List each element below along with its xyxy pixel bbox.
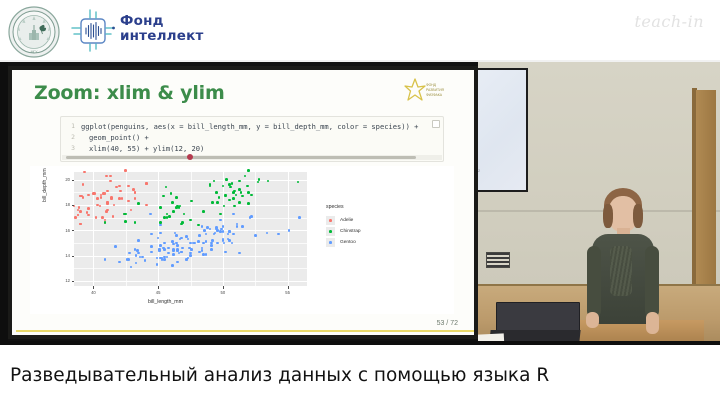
fund-intellect-wordmark: Фонд интеллект (120, 14, 204, 43)
data-point (137, 252, 140, 255)
gridline-x-minor (126, 172, 127, 286)
data-point (145, 182, 148, 185)
x-axis-title: bill_length_mm (148, 299, 183, 305)
data-point (176, 261, 179, 264)
plot-legend: species AdelieChinstrapGentoo (326, 204, 361, 248)
y-tick-label: 16 (58, 228, 70, 233)
data-point (232, 233, 235, 236)
x-tick-mark (158, 286, 159, 289)
data-point (104, 258, 107, 261)
presentation-slide: Zoom: xlim & ylim ФОНД РАЗВИТИЯ ФИЗФАКА … (12, 70, 474, 335)
data-point (247, 202, 250, 205)
presenter-hair-left (603, 204, 613, 228)
data-point (215, 191, 218, 194)
data-point (190, 248, 193, 251)
data-point (189, 254, 192, 257)
data-point (227, 233, 230, 236)
y-tick-label: 12 (58, 278, 70, 283)
data-point (170, 192, 173, 195)
data-point (83, 171, 86, 174)
gridline-x-minor (191, 172, 192, 286)
data-point (215, 228, 218, 231)
data-point (176, 244, 179, 247)
data-point (214, 232, 217, 235)
lecture-video-frame[interactable]: Zoom: xlim & ylim ФОНД РАЗВИТИЯ ФИЗФАКА … (0, 62, 720, 345)
gridline-x (93, 172, 94, 286)
projection-screen: 53 / 72 (478, 68, 528, 192)
data-point (180, 223, 183, 226)
data-point (189, 242, 192, 245)
data-point (219, 230, 222, 233)
data-point (172, 249, 175, 252)
code-text-1: ggplot(penguins, aes(x = bill_length_mm,… (81, 122, 418, 131)
data-point (175, 242, 178, 245)
data-point (167, 247, 170, 250)
data-point (244, 175, 247, 178)
data-point (172, 243, 175, 246)
slide-bezel: Zoom: xlim & ylim ФОНД РАЗВИТИЯ ФИЗФАКА … (8, 66, 478, 339)
y-tick-label: 20 (58, 177, 70, 182)
data-point (213, 180, 216, 183)
data-point (175, 196, 178, 199)
data-point (159, 244, 162, 247)
data-point (109, 180, 112, 183)
data-point (222, 230, 225, 233)
code-gutter-2: 2 (61, 132, 75, 143)
slide-page-number: 53 / 72 (437, 320, 458, 327)
x-tick-label: 55 (282, 290, 294, 295)
data-point (205, 253, 208, 256)
code-line-1: 1 ggplot(penguins, aes(x = bill_length_m… (61, 121, 443, 132)
y-tick-mark (72, 281, 75, 282)
data-point (216, 242, 219, 245)
data-point (238, 252, 241, 255)
data-point (158, 249, 161, 252)
data-point (74, 216, 77, 219)
data-point (106, 201, 109, 204)
data-point (238, 180, 241, 183)
data-point (105, 175, 108, 178)
data-point (219, 219, 222, 222)
data-point (149, 213, 152, 216)
x-tick-mark (288, 286, 289, 289)
data-point (163, 248, 166, 251)
data-point (236, 225, 239, 228)
svg-text:МГУ: МГУ (31, 50, 39, 54)
fund-intellect-logo-icon (70, 8, 116, 54)
data-point (197, 240, 200, 243)
data-point (176, 249, 179, 252)
data-point (136, 249, 139, 252)
data-point (183, 213, 186, 216)
code-text-3: xlim(40, 55) + ylim(12, 20) (89, 144, 204, 153)
slide-title: Zoom: xlim & ylim (34, 82, 225, 104)
data-point (137, 239, 140, 242)
data-point (110, 197, 113, 200)
data-point (246, 185, 249, 188)
data-point (218, 196, 221, 199)
projected-page-number: 53 / 72 (478, 168, 480, 173)
presenter-arm-right (645, 246, 659, 318)
data-point (198, 234, 201, 237)
presenter-blouse-fold (610, 246, 632, 296)
legend-item: Chinstrap (326, 226, 361, 237)
x-tick-label: 50 (217, 290, 229, 295)
data-point (134, 191, 137, 194)
gridline-x-minor (255, 172, 256, 286)
data-point (188, 247, 191, 250)
data-point (145, 204, 148, 207)
data-point (159, 224, 162, 227)
data-point (241, 225, 244, 228)
data-point (250, 194, 253, 197)
code-block[interactable]: 1 ggplot(penguins, aes(x = bill_length_m… (60, 116, 444, 162)
data-point (127, 200, 130, 203)
data-point (127, 258, 130, 261)
data-point (118, 185, 121, 188)
data-point (130, 209, 133, 212)
data-point (118, 261, 121, 264)
data-point (175, 234, 178, 237)
data-point (104, 221, 107, 224)
data-point (163, 258, 166, 261)
plot-panel (74, 172, 307, 286)
copy-code-button[interactable] (432, 120, 440, 128)
x-tick-mark (93, 286, 94, 289)
data-point (202, 210, 205, 213)
page-header: МГУ Фонд (0, 0, 720, 62)
data-point (96, 197, 99, 200)
data-point (209, 183, 212, 186)
data-point (257, 181, 260, 184)
data-point (121, 197, 124, 200)
cursor-marker (187, 154, 193, 160)
scrollbar-thumb[interactable] (66, 156, 416, 159)
y-tick-mark (72, 205, 75, 206)
data-point (100, 196, 103, 199)
data-point (210, 248, 213, 251)
data-point (232, 197, 235, 200)
legend-key (326, 216, 335, 225)
data-point (241, 195, 244, 198)
data-point (185, 258, 188, 261)
data-point (235, 194, 238, 197)
data-point (202, 242, 205, 245)
data-point (82, 183, 85, 186)
data-point (185, 235, 188, 238)
data-point (224, 195, 227, 198)
data-point (82, 196, 85, 199)
data-point (87, 194, 90, 197)
data-point (172, 210, 175, 213)
screenshot-root: МГУ Фонд (0, 0, 720, 405)
data-point (127, 185, 130, 188)
legend-item: Adelie (326, 215, 361, 226)
data-point (79, 210, 82, 213)
code-text-2: geom_point() + (89, 133, 149, 142)
radiator (486, 252, 510, 268)
slide-accent-rule (16, 330, 474, 332)
data-point (225, 178, 228, 181)
data-point (219, 213, 222, 216)
data-point (175, 206, 178, 209)
data-point (181, 247, 184, 250)
data-point (135, 262, 138, 265)
data-point (159, 206, 162, 209)
y-tick-mark (72, 256, 75, 257)
data-point (171, 264, 174, 267)
data-point (232, 191, 235, 194)
gridline-x (158, 172, 159, 286)
data-point (202, 253, 205, 256)
door (696, 90, 716, 285)
data-point (228, 239, 231, 242)
data-point (171, 201, 174, 204)
fund-line-2: интеллект (120, 29, 204, 44)
y-tick-label: 18 (58, 202, 70, 207)
data-point (266, 232, 269, 235)
data-point (134, 221, 137, 224)
data-point (250, 215, 253, 218)
y-axis-title: bill_depth_mm (42, 168, 48, 202)
data-point (277, 233, 280, 236)
video-left-letterbox (0, 62, 8, 345)
data-point (165, 186, 168, 189)
data-point (231, 182, 234, 185)
data-point (216, 201, 219, 204)
code-line-3: 3 xlim(40, 55) + ylim(12, 20) (61, 143, 443, 154)
data-point (168, 215, 171, 218)
y-tick-mark (72, 180, 75, 181)
data-point (233, 205, 236, 208)
x-tick-label: 45 (152, 290, 164, 295)
data-point (206, 226, 209, 229)
data-point (132, 188, 135, 191)
data-point (197, 224, 200, 227)
data-point (203, 229, 206, 232)
fund-star-badge-icon: ФОНД РАЗВИТИЯ ФИЗФАКА (404, 78, 460, 112)
data-point (156, 263, 159, 266)
data-point (112, 215, 115, 218)
lecture-hall-photo: 53 / 72 (478, 62, 720, 345)
data-point (238, 201, 241, 204)
data-point (105, 210, 108, 213)
msu-seal-icon: МГУ (8, 6, 60, 58)
data-point (180, 237, 183, 240)
data-point (124, 213, 127, 216)
data-point (162, 195, 165, 198)
data-point (210, 244, 213, 247)
data-point (201, 249, 204, 252)
data-point (87, 207, 90, 210)
data-point (118, 197, 121, 200)
legend-key (326, 227, 335, 236)
presenter-arm-left (587, 246, 601, 318)
presenter-hand-left (586, 312, 599, 328)
data-point (87, 214, 90, 217)
data-point (201, 225, 204, 228)
data-point (298, 216, 301, 219)
y-tick-label: 14 (58, 253, 70, 258)
presenter-hair-right (633, 204, 643, 228)
data-point (159, 232, 162, 235)
data-point (104, 192, 107, 195)
data-point (150, 233, 153, 236)
data-point (232, 213, 235, 216)
data-point (236, 223, 239, 226)
data-point (92, 192, 95, 195)
data-point (180, 251, 183, 254)
data-point (247, 169, 250, 172)
data-point (240, 191, 243, 194)
data-point (150, 251, 153, 254)
data-point (297, 181, 300, 184)
data-point (128, 252, 131, 255)
star-badge-text: ФОНД РАЗВИТИЯ ФИЗФАКА (426, 83, 444, 98)
data-point (124, 169, 127, 172)
data-point (150, 245, 153, 248)
course-caption: Разведывательный анализ данных с помощью… (0, 345, 720, 405)
data-point (109, 175, 112, 178)
code-line-2: 2 geom_point() + (61, 132, 443, 143)
data-point (124, 220, 127, 223)
data-point (141, 256, 144, 259)
legend-key (326, 238, 335, 247)
gridline-x (223, 172, 224, 286)
data-point (95, 216, 98, 219)
data-point (210, 242, 213, 245)
ggplot-figure: 121416182040455055 bill_depth_mm bill_le… (30, 166, 454, 314)
data-point (231, 242, 234, 245)
teach-in-wordmark: teach-in (634, 12, 704, 31)
data-point (134, 197, 137, 200)
legend-title: species (326, 204, 361, 210)
presenter (584, 188, 664, 345)
code-gutter-3: 3 (61, 143, 75, 154)
data-point (187, 238, 190, 241)
y-tick-mark (72, 230, 75, 231)
data-point (79, 223, 82, 226)
code-horizontal-scrollbar[interactable] (62, 155, 442, 160)
data-point (211, 201, 214, 204)
data-point (172, 253, 175, 256)
legend-label: Adelie (340, 218, 353, 223)
code-gutter-1: 1 (61, 121, 75, 132)
presenter-hand-right (646, 312, 659, 334)
data-point (144, 259, 147, 262)
x-tick-mark (223, 286, 224, 289)
course-caption-text: Разведывательный анализ данных с помощью… (0, 365, 549, 386)
data-point (99, 205, 102, 208)
legend-label: Chinstrap (340, 229, 361, 234)
data-point (167, 252, 170, 255)
fund-line-1: Фонд (120, 14, 204, 29)
data-point (137, 202, 140, 205)
data-point (205, 233, 208, 236)
data-point (114, 245, 117, 248)
legend-label: Gentoo (340, 240, 356, 245)
data-point (77, 214, 80, 217)
x-tick-label: 40 (87, 290, 99, 295)
data-point (288, 229, 291, 232)
data-point (163, 242, 166, 245)
data-point (254, 234, 257, 237)
legend-entries: AdelieChinstrapGentoo (326, 215, 361, 248)
data-point (228, 199, 231, 202)
data-point (224, 251, 227, 254)
data-point (229, 186, 232, 189)
legend-item: Gentoo (326, 237, 361, 248)
